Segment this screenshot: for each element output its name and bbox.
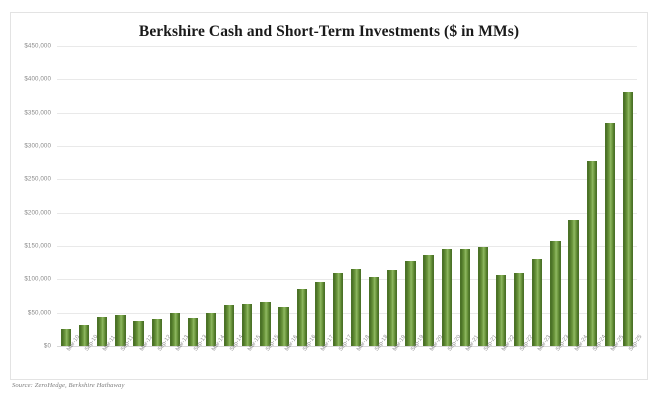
chart-title: Berkshire Cash and Short-Term Investment… (11, 23, 647, 41)
y-axis-tick-label: $50,000 (28, 309, 51, 316)
bar[interactable] (550, 241, 560, 346)
y-axis-tick-label: $350,000 (24, 109, 51, 116)
bar[interactable] (532, 259, 542, 346)
bar-slot: Sep-15 (256, 46, 274, 346)
bar[interactable] (315, 282, 325, 346)
bar-slot: Sep-22 (510, 46, 528, 346)
y-axis-tick-label: $250,000 (24, 176, 51, 183)
bar-slot: Sep-13 (184, 46, 202, 346)
bar-series: Mar-10Sep-10Mar-11Sep-11Mar-12Sep-12Mar-… (57, 46, 637, 346)
bar[interactable] (587, 161, 597, 346)
bar-slot: Sep-19 (401, 46, 419, 346)
bar[interactable] (387, 270, 397, 346)
bar[interactable] (242, 304, 252, 346)
bar-slot: Mar-12 (130, 46, 148, 346)
y-axis-tick-label: $0 (44, 343, 51, 350)
bar-slot: Sep-14 (220, 46, 238, 346)
bar-slot: Sep-17 (329, 46, 347, 346)
bar-slot: Mar-25 (601, 46, 619, 346)
bar[interactable] (333, 273, 343, 346)
bar-slot: Mar-23 (528, 46, 546, 346)
plot-area: $450,000$400,000$350,000$300,000$250,000… (57, 46, 637, 346)
bar[interactable] (405, 261, 415, 346)
bar-slot: Sep-11 (111, 46, 129, 346)
bar[interactable] (568, 220, 578, 346)
y-axis-tick-label: $200,000 (24, 209, 51, 216)
bar-slot: Mar-15 (238, 46, 256, 346)
bar[interactable] (206, 313, 216, 346)
bar-slot: Mar-14 (202, 46, 220, 346)
bar-slot: Mar-18 (347, 46, 365, 346)
bar-slot: Sep-18 (365, 46, 383, 346)
y-axis-tick-label: $150,000 (24, 243, 51, 250)
bar[interactable] (170, 313, 180, 346)
bar[interactable] (152, 319, 162, 346)
bar[interactable] (351, 269, 361, 346)
bar[interactable] (605, 123, 615, 346)
source-note: Source: ZeroHedge, Berkshire Hathaway (12, 382, 124, 389)
bar[interactable] (623, 92, 633, 346)
bar[interactable] (297, 289, 307, 346)
bar-slot: Sep-20 (438, 46, 456, 346)
bar-slot: Sep-16 (293, 46, 311, 346)
bar-slot: Sep-25 (619, 46, 637, 346)
bar-slot: Sep-21 (474, 46, 492, 346)
bar[interactable] (478, 247, 488, 346)
bar-slot: Mar-11 (93, 46, 111, 346)
bar[interactable] (369, 277, 379, 346)
bar[interactable] (496, 275, 506, 346)
bar[interactable] (224, 305, 234, 346)
bar-slot: Mar-16 (275, 46, 293, 346)
bar-slot: Mar-17 (311, 46, 329, 346)
bar-slot: Mar-19 (383, 46, 401, 346)
bar[interactable] (260, 302, 270, 346)
bar-slot: Mar-24 (565, 46, 583, 346)
bar-slot: Mar-22 (492, 46, 510, 346)
bar[interactable] (514, 273, 524, 346)
bar-slot: Mar-20 (420, 46, 438, 346)
bar[interactable] (278, 307, 288, 346)
bar[interactable] (460, 249, 470, 346)
bar[interactable] (423, 255, 433, 346)
bar-slot: Sep-24 (583, 46, 601, 346)
bar-slot: Sep-23 (546, 46, 564, 346)
bar-slot: Mar-10 (57, 46, 75, 346)
bar-slot: Sep-12 (148, 46, 166, 346)
bar-slot: Mar-13 (166, 46, 184, 346)
bar-slot: Sep-10 (75, 46, 93, 346)
bar[interactable] (442, 249, 452, 346)
chart-card: Berkshire Cash and Short-Term Investment… (10, 12, 648, 380)
y-axis-tick-label: $450,000 (24, 43, 51, 50)
bar-slot: Mar-21 (456, 46, 474, 346)
y-axis-tick-label: $400,000 (24, 76, 51, 83)
y-axis-tick-label: $100,000 (24, 276, 51, 283)
y-axis-tick-label: $300,000 (24, 143, 51, 150)
